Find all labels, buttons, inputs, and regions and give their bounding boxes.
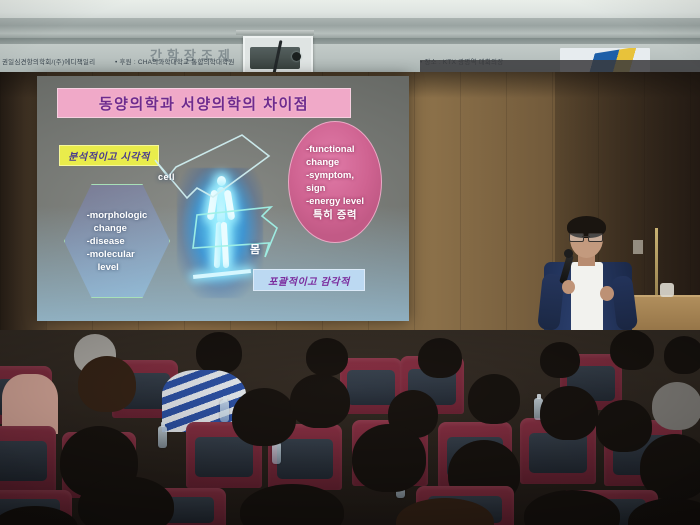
lecture-hall-photo: 간학장조제 권일심견항의학회/(주)에디책일리 • 후원 : CHA의과학대학교… xyxy=(0,0,700,525)
audience-head xyxy=(610,330,654,370)
audience-head xyxy=(290,374,350,428)
audience-head xyxy=(196,332,242,374)
presenter xyxy=(536,218,644,343)
audience-head xyxy=(78,356,136,412)
projection-screen: 동양의학과 서양의학의 차이점 분석적이고 시각적 -morphologic c… xyxy=(37,76,409,321)
presenter-hand-right xyxy=(600,286,614,301)
presenter-hand-left xyxy=(562,280,575,294)
podium-object xyxy=(660,283,674,297)
audience-head xyxy=(352,424,426,492)
audience-head xyxy=(664,336,700,374)
projector-mount-arm xyxy=(236,30,314,35)
audience-head xyxy=(240,484,344,525)
audience-head xyxy=(540,342,580,378)
audience-head xyxy=(232,388,296,446)
banner-line-left: 권일심견항의학회/(주)에디책일리 xyxy=(2,56,95,66)
audience-head xyxy=(540,386,598,440)
presenter-shirt xyxy=(571,262,603,340)
microphone-capsule xyxy=(564,249,573,258)
ceiling xyxy=(0,0,700,20)
ceiling-rail xyxy=(0,18,700,40)
projector-lens xyxy=(292,52,301,61)
water-bottle xyxy=(158,426,167,448)
audience-head xyxy=(306,338,348,376)
water-bottle xyxy=(220,400,229,422)
slide-tag-holistic-text: 포괄적이고 감각적 xyxy=(268,273,350,288)
slide-label-body: 몸 xyxy=(250,241,260,257)
eyeglasses-icon xyxy=(569,233,603,240)
slide-label-cell: cell xyxy=(158,172,175,182)
audience-head xyxy=(596,400,652,452)
audience-head xyxy=(78,476,174,525)
audience-torso xyxy=(2,374,58,434)
seat xyxy=(0,426,56,492)
vertical-pole xyxy=(655,228,658,296)
audience-head xyxy=(652,382,700,430)
audience-head xyxy=(468,374,520,424)
audience-area xyxy=(0,330,700,525)
audience-head xyxy=(418,338,462,378)
slide-tag-holistic: 포괄적이고 감각적 xyxy=(253,269,365,291)
banner-line-center: • 후원 : CHA의과학대학교 통합의학대학원 xyxy=(115,56,235,66)
